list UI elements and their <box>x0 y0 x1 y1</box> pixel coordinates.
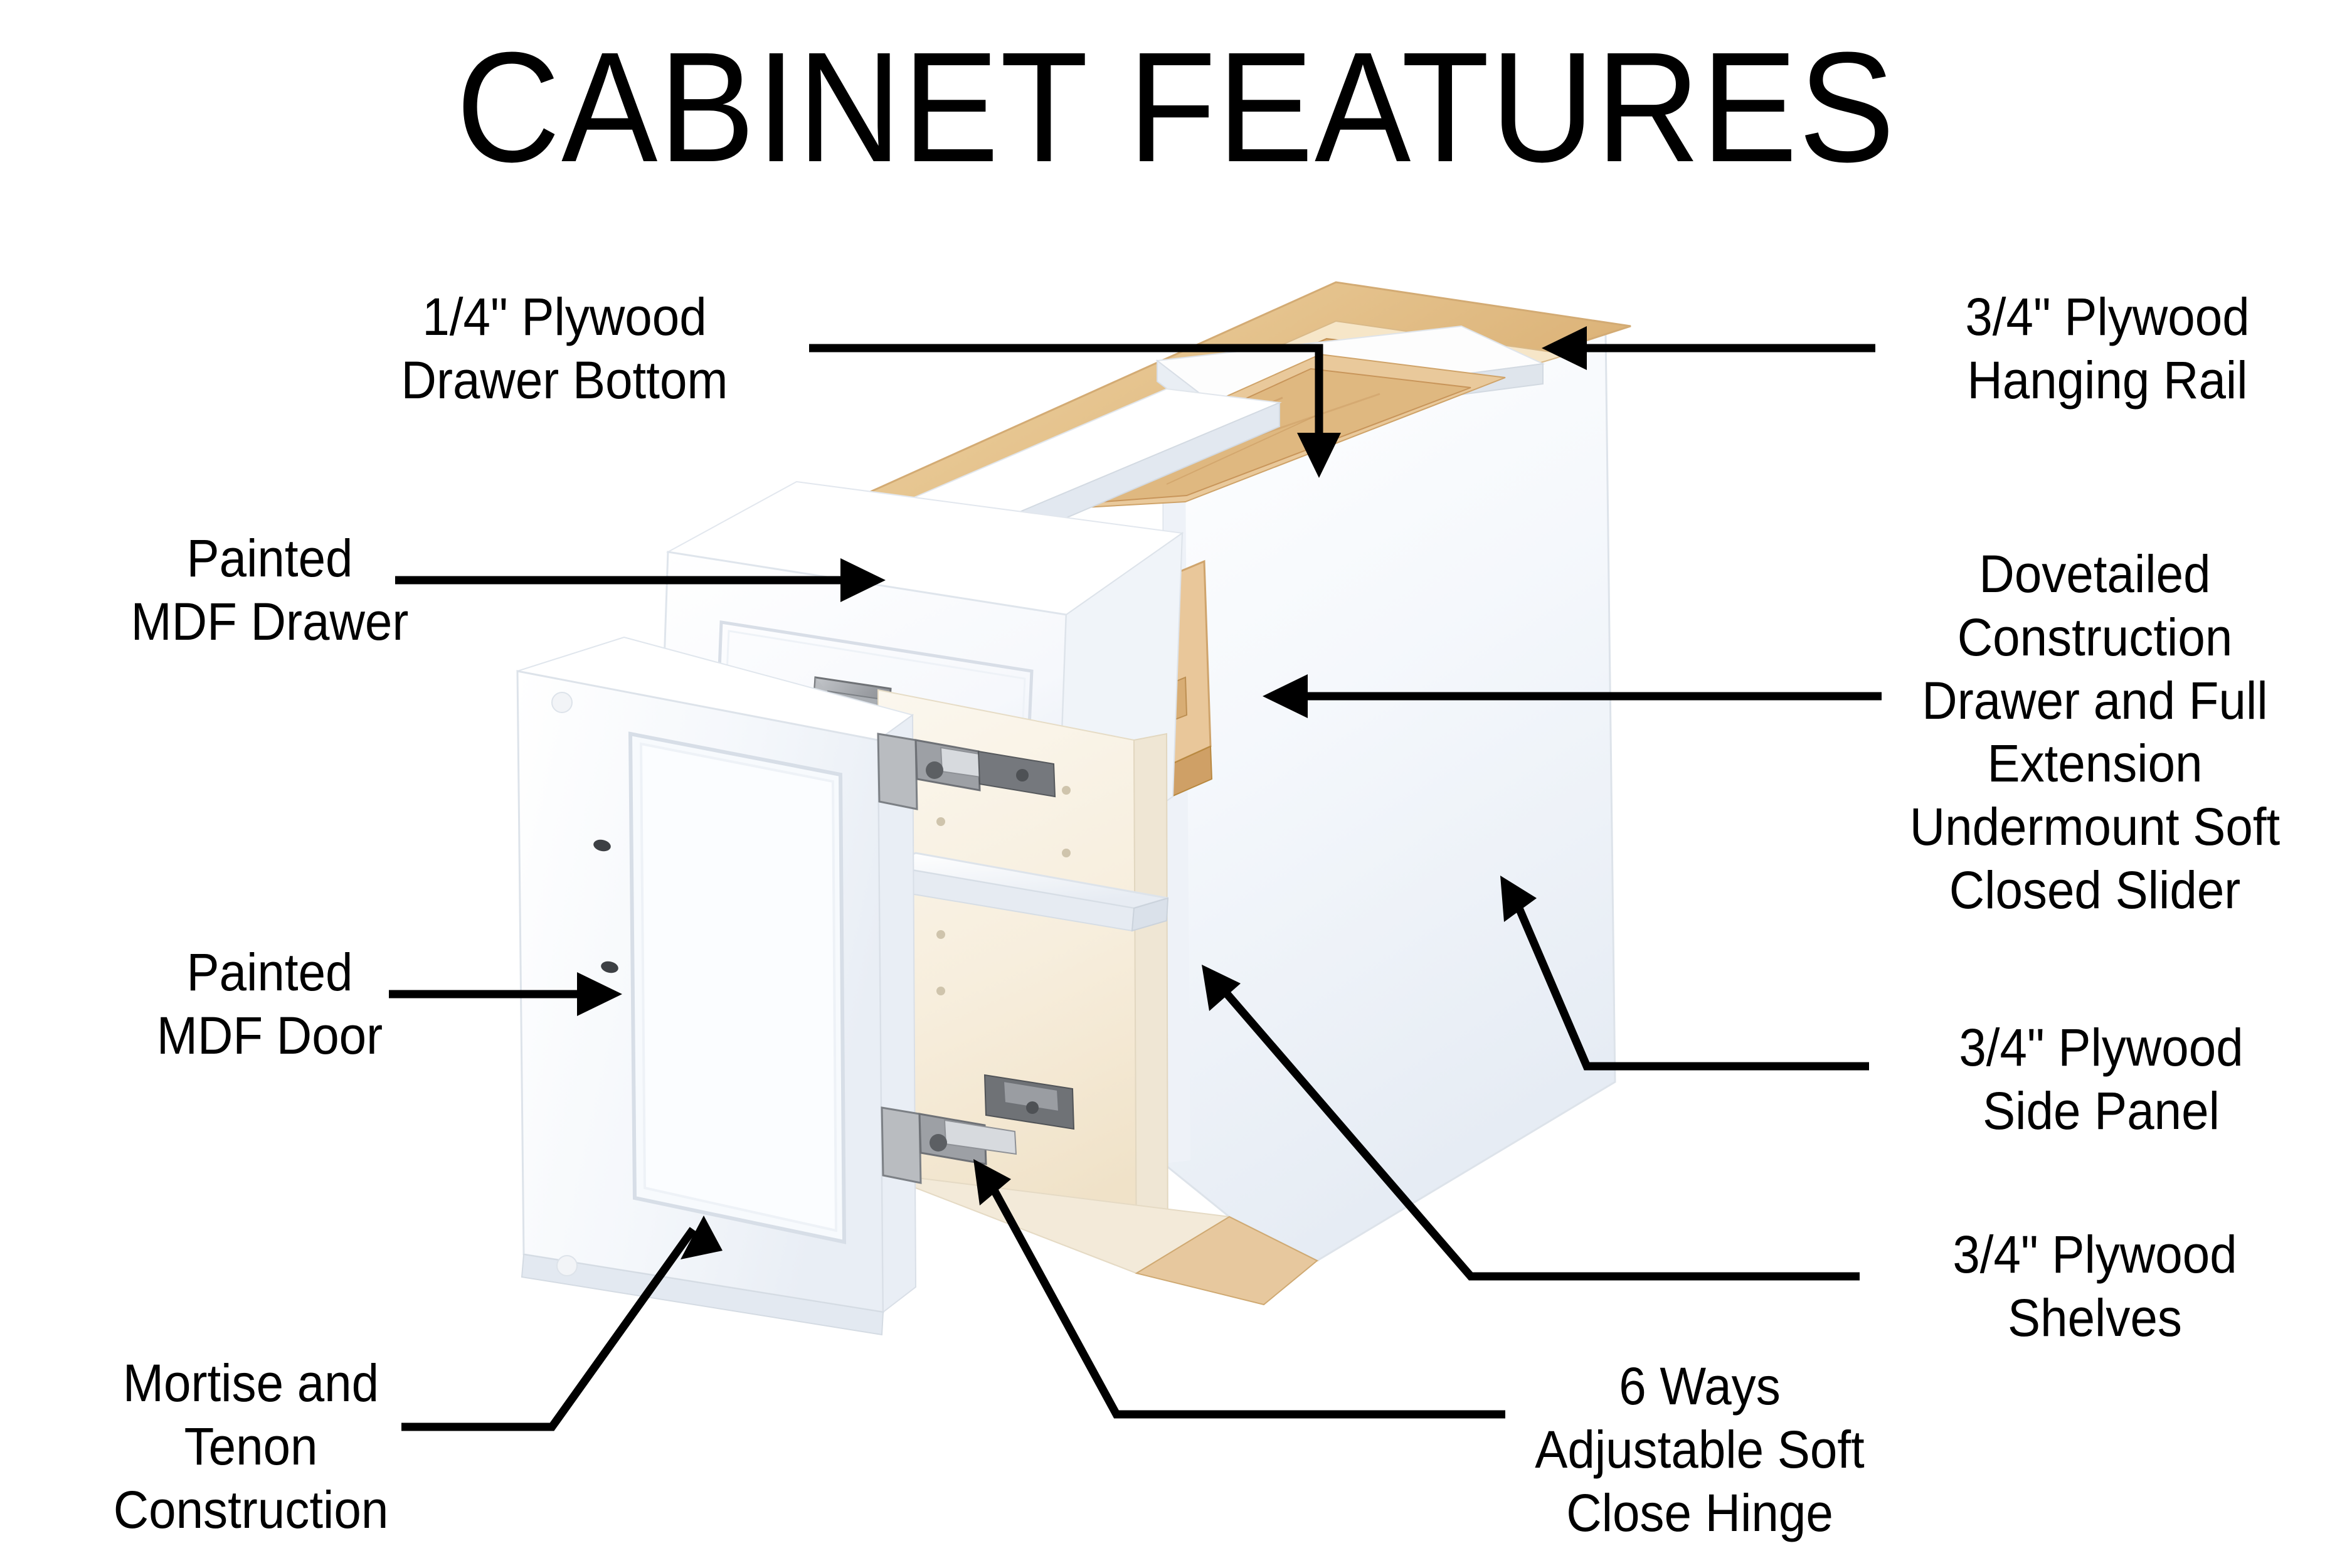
callout-line: Painted <box>54 941 485 1004</box>
callout-mortise-tenon: Mortise and Tenon Construction <box>35 1352 467 1541</box>
callout-line: MDF Door <box>54 1004 485 1067</box>
callout-line: Closed Slider <box>1870 859 2319 922</box>
callout-hanging-rail: 3/4" Plywood Hanging Rail <box>1904 285 2312 412</box>
callout-painted-door: Painted MDF Door <box>54 941 485 1067</box>
callout-line: 6 Ways <box>1496 1355 1904 1418</box>
callout-line: Close Hinge <box>1496 1481 1904 1545</box>
callout-line: 1/4" Plywood <box>349 285 780 349</box>
callout-side-panel: 3/4" Plywood Side Panel <box>1897 1016 2306 1143</box>
callout-dovetailed-slider: Dovetailed Construction Drawer and Full … <box>1870 543 2319 922</box>
callout-line: MDF Drawer <box>54 590 485 654</box>
callout-line: 3/4" Plywood <box>1885 1223 2305 1286</box>
infographic-canvas: CABINET FEATURES <box>0 0 2352 1568</box>
callout-line: Hanging Rail <box>1904 349 2312 412</box>
callout-line: Painted <box>54 527 485 590</box>
callout-line: Adjustable Soft <box>1496 1418 1904 1481</box>
callout-line: Drawer Bottom <box>349 349 780 412</box>
callout-line: 3/4" Plywood <box>1904 285 2312 349</box>
callout-line: 3/4" Plywood <box>1897 1016 2306 1079</box>
callout-drawer-bottom: 1/4" Plywood Drawer Bottom <box>349 285 780 412</box>
callout-line: Side Panel <box>1897 1079 2306 1143</box>
callout-hinge: 6 Ways Adjustable Soft Close Hinge <box>1496 1355 1904 1544</box>
callout-line: Extension <box>1870 732 2319 795</box>
callout-line: Construction <box>1870 606 2319 669</box>
cabinet-illustration <box>502 238 1643 1443</box>
callout-shelves: 3/4" Plywood Shelves <box>1885 1223 2305 1350</box>
callout-line: Drawer and Full <box>1870 669 2319 733</box>
door-bumper-pad-top <box>552 692 572 712</box>
callout-line: Tenon <box>35 1415 467 1478</box>
page-title: CABINET FEATURES <box>94 25 2258 190</box>
callout-line: Dovetailed <box>1870 543 2319 606</box>
callout-line: Shelves <box>1885 1286 2305 1350</box>
callout-line: Construction <box>35 1478 467 1542</box>
door-outer-face[interactable] <box>517 637 916 1335</box>
callout-line: Undermount Soft <box>1870 795 2319 859</box>
door-stile-rail-joint <box>630 734 844 1242</box>
callout-painted-drawer: Painted MDF Drawer <box>54 527 485 654</box>
cabinet-svg <box>502 238 1643 1443</box>
door-bumper-pad-bottom <box>557 1256 577 1276</box>
callout-line: Mortise and <box>35 1352 467 1415</box>
